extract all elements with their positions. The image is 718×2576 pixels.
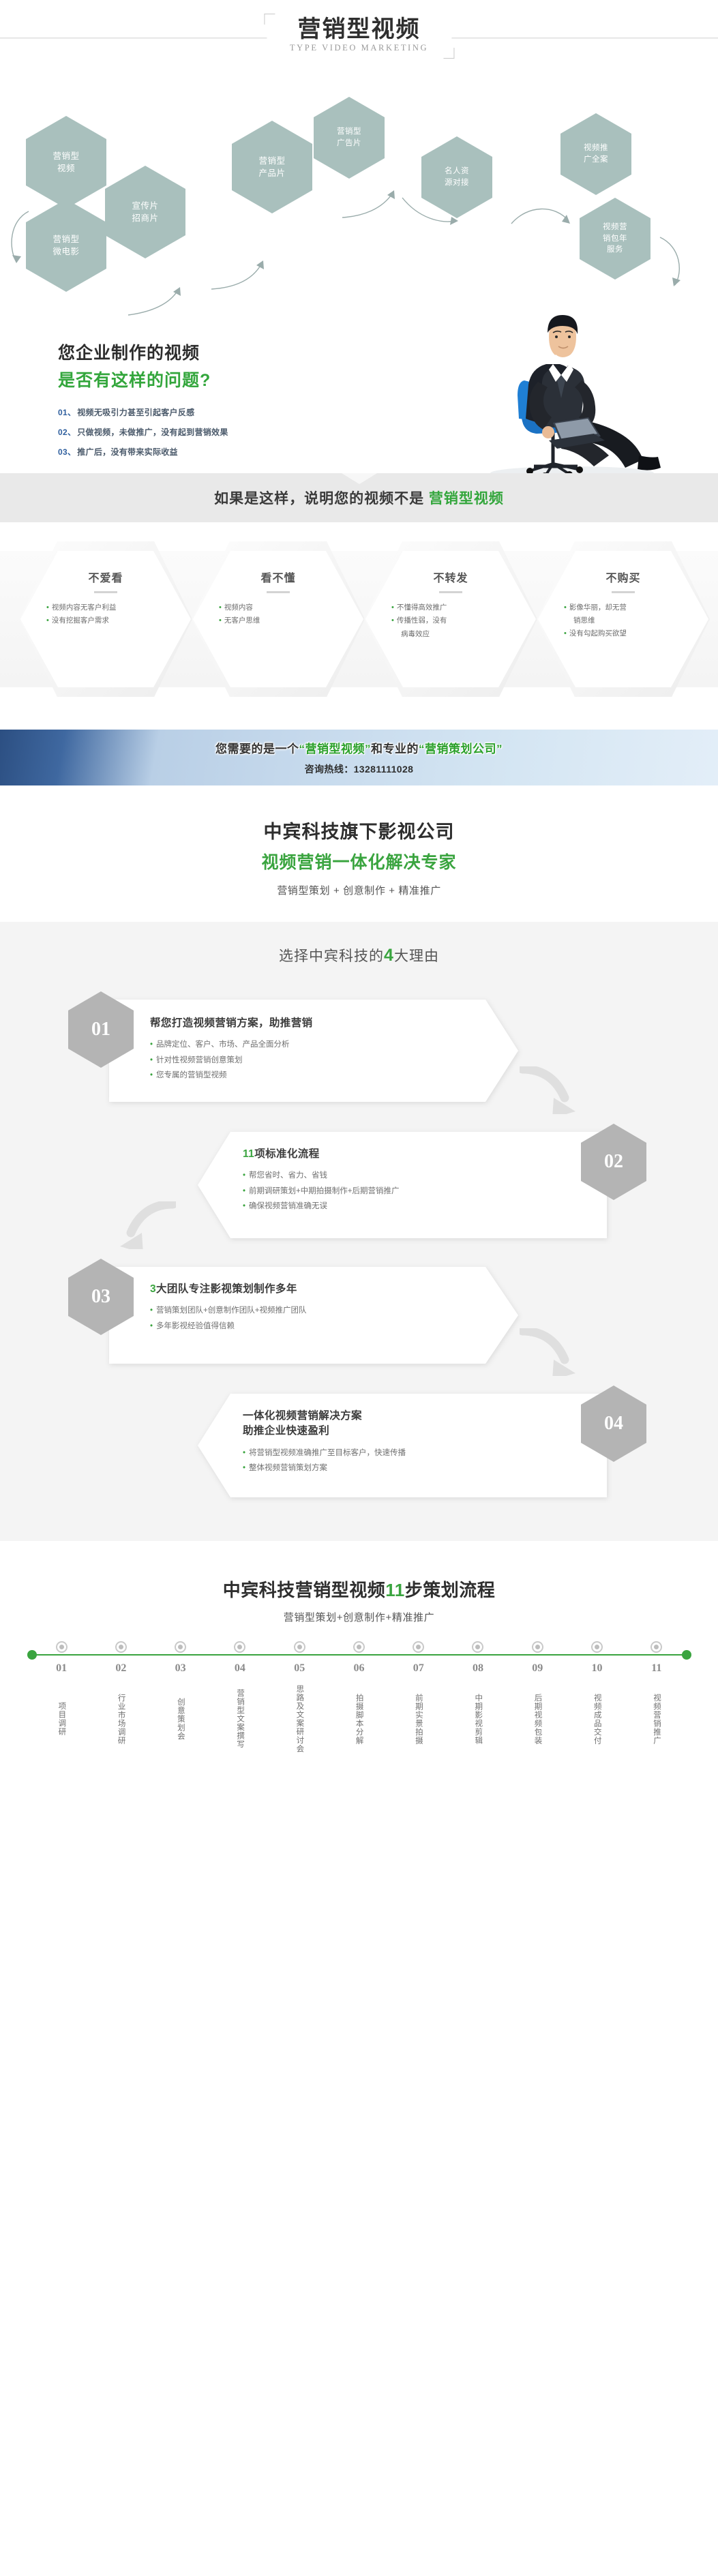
step-dot-icon <box>532 1641 543 1653</box>
cta-headline: 您需要的是一个“营销型视频”和专业的“营销策划公司” <box>215 739 503 756</box>
flow-title-suffix: 步策划流程 <box>405 1580 496 1600</box>
bullet-icon: • <box>391 603 394 612</box>
reason-card-01-text: 帮您打造视频营销方案，助推营销 •品牌定位、客户、市场、产品全面分析 •针对性视… <box>150 1016 313 1083</box>
hex-service-5-label: 营销型广告片 <box>326 126 372 149</box>
reasons-title-prefix: 选择中宾科技的 <box>279 948 384 964</box>
problem-section: 您企业制作的视频 是否有这样的问题? 01、视频无吸引力甚至引起客户反感 02、… <box>0 327 718 464</box>
step-arrow-icon <box>520 1066 569 1107</box>
pain-hex-2-title: 看不懂 <box>216 569 340 585</box>
gray-banner-text-normal: 如果是这样，说明您的视频不是 <box>214 491 429 507</box>
pain-hex-2-bullet: •无客户思维 <box>216 614 340 627</box>
cta-text-a: 您需要的是一个 <box>215 743 299 755</box>
reason-card-04-bullet: •将营销型视频准确推广至目标客户，快速传播 <box>243 1446 406 1461</box>
flow-step-05[interactable]: 05思路及文案研讨会 <box>270 1662 329 1756</box>
flow-arrow-icon <box>127 285 188 318</box>
cta-text-b: 和专业的 <box>371 743 419 755</box>
reason-card-02-text: 11项标准化流程 •帮您省时、省力、省钱 •前期调研策划+中期拍摄制作+后期营销… <box>243 1147 399 1214</box>
hex-service-3[interactable]: 宣传片招商片 <box>105 166 185 258</box>
reason-card-02-bullet: •确保视频营销准确无误 <box>243 1199 399 1214</box>
problem-item-number: 01、 <box>58 408 76 417</box>
company-intro: 中宾科技旗下影视公司 视频营销一体化解决专家 营销型策划 + 创意制作 + 精准… <box>0 785 718 922</box>
flow-step-01[interactable]: 01项目调研 <box>32 1662 91 1756</box>
reason-card-04-bullet: •整体视频营销策划方案 <box>243 1461 406 1476</box>
hex-service-1[interactable]: 营销型视频 <box>26 116 106 209</box>
gray-banner-text-accent: 营销型视频 <box>429 491 504 507</box>
pain-hex-1[interactable]: 不爱看 •视频内容无客户利益 •没有挖掘客户需求 <box>20 551 191 687</box>
flow-step-05-number: 05 <box>270 1662 329 1675</box>
pain-hex-3[interactable]: 不转发 •不懂得高效推广 •传播性弱，没有 病毒效应 <box>365 551 536 687</box>
reason-card-02[interactable]: 11项标准化流程 •帮您省时、省力、省钱 •前期调研策划+中期拍摄制作+后期营销… <box>198 1132 607 1238</box>
page-subtitle-en: TYPE VIDEO MARKETING <box>290 43 428 53</box>
reason-card-01-bullet: •品牌定位、客户、市场、产品全面分析 <box>150 1037 313 1052</box>
flow-step-02-label: 行业市场调研 <box>112 1681 130 1756</box>
bullet-icon: • <box>243 1449 245 1457</box>
pain-hex-3-bullet: •传播性弱，没有 <box>389 614 513 627</box>
bullet-icon: • <box>243 1202 245 1210</box>
bullet-icon: • <box>243 1171 245 1180</box>
flow-arrow-icon <box>341 188 402 222</box>
bullet-icon: • <box>150 1306 153 1315</box>
reason-card-03-text: 3大团队专注影视策划制作多年 •营销策划团队+创意制作团队+视频推广团队 •多年… <box>150 1282 306 1334</box>
bullet-icon: • <box>243 1187 245 1195</box>
reason-card-02-bullet: •前期调研策划+中期拍摄制作+后期营销推广 <box>243 1184 399 1199</box>
flow-arrow-icon <box>5 210 33 268</box>
flow-arrow-icon <box>210 258 271 292</box>
flow-step-05-label: 思路及文案研讨会 <box>290 1681 308 1756</box>
bullet-icon: • <box>46 603 49 612</box>
flow-step-11-label: 视频营销推广 <box>648 1681 665 1756</box>
company-intro-line1: 中宾科技旗下影视公司 <box>0 817 718 843</box>
flow-step-10[interactable]: 10视频成品交付 <box>567 1662 627 1756</box>
bullet-icon: • <box>564 603 567 612</box>
landing-page: 营销型视频 TYPE VIDEO MARKETING 营销型视频 营销型微电影 … <box>0 0 718 1784</box>
bullet-icon: • <box>150 1322 153 1330</box>
step-dot-icon <box>115 1641 127 1653</box>
flow-step-06-label: 拍摄脚本分解 <box>350 1681 368 1756</box>
flow-title: 中宾科技营销型视频11步策划流程 <box>0 1576 718 1602</box>
reason-row-03: 3大团队专注影视策划制作多年 •营销策划团队+创意制作团队+视频推广团队 •多年… <box>0 1257 718 1387</box>
flow-step-03-number: 03 <box>151 1662 210 1675</box>
flow-step-02-number: 02 <box>91 1662 151 1675</box>
bullet-icon: • <box>564 629 567 638</box>
hex-service-7[interactable]: 视频推广全案 <box>560 113 631 195</box>
flow-step-11-number: 11 <box>627 1662 686 1675</box>
flow-step-08-label: 中期影视剪辑 <box>469 1681 487 1756</box>
reason-card-01-heading: 帮您打造视频营销方案，助推营销 <box>150 1016 313 1031</box>
problem-item-text: 推广后，没有带来实际收益 <box>77 447 178 457</box>
hex-service-2[interactable]: 营销型微电影 <box>26 199 106 292</box>
bullet-icon: • <box>219 616 222 625</box>
hex-service-1-label: 营销型视频 <box>42 150 90 175</box>
reason-card-04-text: 一体化视频营销解决方案 助推企业快速盈利 •将营销型视频准确推广至目标客户，快速… <box>243 1409 406 1476</box>
reason-card-02-heading-number: 11 <box>243 1148 254 1160</box>
divider <box>94 591 117 593</box>
pain-hex-2-bullet: •视频内容 <box>216 601 340 614</box>
service-hexagon-network: 营销型视频 营销型微电影 宣传片招商片 营销型产品片 营销型广告片 名人资源对接… <box>0 102 718 327</box>
step-dot-icon <box>294 1641 305 1653</box>
hex-service-4-label: 营销型产品片 <box>248 155 296 179</box>
reason-card-02-heading: 11项标准化流程 <box>243 1147 399 1162</box>
flow-step-07[interactable]: 07前期实景拍摄 <box>389 1662 448 1756</box>
divider <box>267 591 290 593</box>
step-dot-icon <box>353 1641 365 1653</box>
flow-step-09[interactable]: 09后期视频包装 <box>508 1662 567 1756</box>
bullet-icon: • <box>391 616 394 625</box>
reasons-section: 选择中宾科技的4大理由 帮您打造视频营销方案，助推营销 •品牌定位、客户、市场、… <box>0 922 718 1541</box>
flow-step-01-number: 01 <box>32 1662 91 1675</box>
pain-hex-4-bullet: •影像华丽，却无营 <box>561 601 685 614</box>
reason-card-01-bullet: •您专属的营销型视频 <box>150 1068 313 1083</box>
bullet-icon: • <box>219 603 222 612</box>
reason-card-01-bullet: •针对性视频营销创意策划 <box>150 1053 313 1068</box>
pain-hex-4-bullet: •没有勾起购买欲望 <box>561 627 685 640</box>
flow-arrow-icon <box>510 203 577 230</box>
timeline-start-dot-icon <box>27 1650 37 1660</box>
flow-step-06[interactable]: 06拍摄脚本分解 <box>329 1662 389 1756</box>
reason-card-list: 帮您打造视频营销方案，助推营销 •品牌定位、客户、市场、产品全面分析 •针对性视… <box>0 978 718 1510</box>
flow-step-10-label: 视频成品交付 <box>588 1681 605 1756</box>
flow-arrow-icon <box>401 194 464 226</box>
reason-card-03[interactable]: 3大团队专注影视策划制作多年 •营销策划团队+创意制作团队+视频推广团队 •多年… <box>109 1267 518 1364</box>
hero-title-box: 营销型视频 TYPE VIDEO MARKETING <box>267 15 451 57</box>
corner-bracket-icon <box>443 48 454 59</box>
reason-row-01: 帮您打造视频营销方案，助推营销 •品牌定位、客户、市场、产品全面分析 •针对性视… <box>0 990 718 1120</box>
hex-service-6-label: 名人资源对接 <box>434 166 480 188</box>
pain-hex-4[interactable]: 不购买 •影像华丽，却无营 销思维 •没有勾起购买欲望 <box>538 551 708 687</box>
reasons-title-suffix: 大理由 <box>394 948 439 964</box>
flow-title-number: 11 <box>385 1580 405 1600</box>
step-dot-icon <box>56 1641 68 1653</box>
corner-bracket-icon <box>264 14 275 25</box>
problem-item-text: 视频无吸引力甚至引起客户反感 <box>77 408 194 417</box>
timeline-end-dot-icon <box>682 1650 691 1660</box>
hex-service-5[interactable]: 营销型广告片 <box>314 97 385 179</box>
flow-arrow-icon <box>657 236 687 290</box>
reasons-title-number: 4 <box>384 946 394 965</box>
flow-step-10-number: 10 <box>567 1662 627 1675</box>
bullet-icon: • <box>150 1056 153 1064</box>
flow-section: 中宾科技营销型视频11步策划流程 营销型策划+创意制作+精准推广 01项目调研 … <box>0 1541 718 1784</box>
flow-step-09-label: 后期视频包装 <box>528 1681 546 1756</box>
bullet-icon: • <box>243 1464 245 1472</box>
problem-item-number: 02、 <box>58 428 76 437</box>
flow-step-list: 01项目调研 02行业市场调研 03创意策划会 04营销型文案撰写 05思路及文… <box>32 1662 687 1756</box>
company-intro-line2: 视频营销一体化解决专家 <box>0 849 718 873</box>
cta-quote-2: “营销策划公司” <box>419 743 503 755</box>
flow-step-06-number: 06 <box>329 1662 389 1675</box>
flow-step-04[interactable]: 04营销型文案撰写 <box>210 1662 269 1756</box>
hex-service-7-label: 视频推广全案 <box>573 143 619 165</box>
pain-hex-4-title: 不购买 <box>561 569 685 585</box>
hex-service-2-label: 营销型微电影 <box>42 233 90 258</box>
step-dot-icon <box>591 1641 603 1653</box>
bullet-icon: • <box>150 1040 153 1049</box>
flow-step-07-number: 07 <box>389 1662 448 1675</box>
problem-item-number: 03、 <box>58 447 76 457</box>
reason-row-04: 一体化视频营销解决方案 助推企业快速盈利 •将营销型视频准确推广至目标客户，快速… <box>0 1384 718 1514</box>
cta-hotline[interactable]: 咨询热线：13281111028 <box>305 762 414 776</box>
flow-step-08[interactable]: 08中期影视剪辑 <box>448 1662 507 1756</box>
step-arrow-icon <box>520 1328 569 1369</box>
pain-hex-1-bullet: •没有挖掘客户需求 <box>44 614 168 627</box>
flow-step-03[interactable]: 03创意策划会 <box>151 1662 210 1756</box>
cta-blue-banner: 您需要的是一个“营销型视频”和专业的“营销策划公司” 咨询热线：13281111… <box>0 730 718 785</box>
divider <box>612 591 635 593</box>
pain-hex-3-bullet: 病毒效应 <box>389 628 513 640</box>
flow-step-02[interactable]: 02行业市场调研 <box>91 1662 151 1756</box>
pain-hex-2[interactable]: 看不懂 •视频内容 •无客户思维 <box>193 551 363 687</box>
cta-quote-1: “营销型视频” <box>299 743 372 755</box>
divider <box>439 591 462 593</box>
flow-step-01-label: 项目调研 <box>53 1681 70 1756</box>
businessman-photo <box>451 312 676 483</box>
bullet-icon: • <box>46 616 49 625</box>
step-arrow-icon <box>115 1201 164 1242</box>
hero-header: 营销型视频 TYPE VIDEO MARKETING <box>0 0 718 102</box>
reason-card-01[interactable]: 帮您打造视频营销方案，助推营销 •品牌定位、客户、市场、产品全面分析 •针对性视… <box>109 1000 518 1102</box>
hex-service-8[interactable]: 视频营销包年服务 <box>580 198 650 280</box>
hex-service-3-label: 宣传片招商片 <box>121 200 169 224</box>
flow-step-09-number: 09 <box>508 1662 567 1675</box>
flow-step-03-label: 创意策划会 <box>171 1681 189 1756</box>
gray-banner-text: 如果是这样，说明您的视频不是 营销型视频 <box>214 488 504 508</box>
pain-hex-4-bullet: 销思维 <box>561 614 685 627</box>
reason-card-03-bullet: •营销策划团队+创意制作团队+视频推广团队 <box>150 1303 306 1318</box>
reasons-title: 选择中宾科技的4大理由 <box>0 945 718 965</box>
flow-step-04-number: 04 <box>210 1662 269 1675</box>
flow-step-07-label: 前期实景拍摄 <box>410 1681 428 1756</box>
company-intro-line3: 营销型策划 + 创意制作 + 精准推广 <box>0 883 718 897</box>
reason-card-04-heading: 一体化视频营销解决方案 助推企业快速盈利 <box>243 1409 406 1439</box>
reason-card-03-bullet: •多年影视经验值得信赖 <box>150 1319 306 1334</box>
hex-service-8-label: 视频营销包年服务 <box>592 222 638 256</box>
hex-service-4[interactable]: 营销型产品片 <box>232 121 312 213</box>
problem-item-text: 只做视频，未做推广，没有起到营销效果 <box>77 428 228 437</box>
pain-hex-3-bullet: •不懂得高效推广 <box>389 601 513 614</box>
page-title: 营销型视频 <box>290 16 428 42</box>
gray-statement-banner: 如果是这样，说明您的视频不是 营销型视频 <box>0 473 718 522</box>
reason-card-03-heading: 3大团队专注影视策划制作多年 <box>150 1282 306 1297</box>
pain-hex-1-title: 不爱看 <box>44 569 168 585</box>
pain-point-hex-row: 不爱看 •视频内容无客户利益 •没有挖掘客户需求 看不懂 •视频内容 •无客户思… <box>0 551 718 687</box>
reason-card-04[interactable]: 一体化视频营销解决方案 助推企业快速盈利 •将营销型视频准确推广至目标客户，快速… <box>198 1394 607 1497</box>
bullet-icon: • <box>150 1071 153 1079</box>
flow-title-prefix: 中宾科技营销型视频 <box>223 1580 386 1600</box>
reason-row-02: 11项标准化流程 •帮您省时、省力、省钱 •前期调研策划+中期拍摄制作+后期营销… <box>0 1122 718 1252</box>
flow-step-04-label: 营销型文案撰写 <box>231 1681 249 1756</box>
pain-hex-1-bullet: •视频内容无客户利益 <box>44 601 168 614</box>
pain-hex-3-title: 不转发 <box>389 569 513 585</box>
flow-subtitle: 营销型策划+创意制作+精准推广 <box>0 1610 718 1624</box>
flow-step-08-number: 08 <box>448 1662 507 1675</box>
flow-step-11[interactable]: 11视频营销推广 <box>627 1662 686 1756</box>
reason-card-03-heading-number: 3 <box>150 1283 156 1295</box>
reason-card-02-bullet: •帮您省时、省力、省钱 <box>243 1168 399 1183</box>
